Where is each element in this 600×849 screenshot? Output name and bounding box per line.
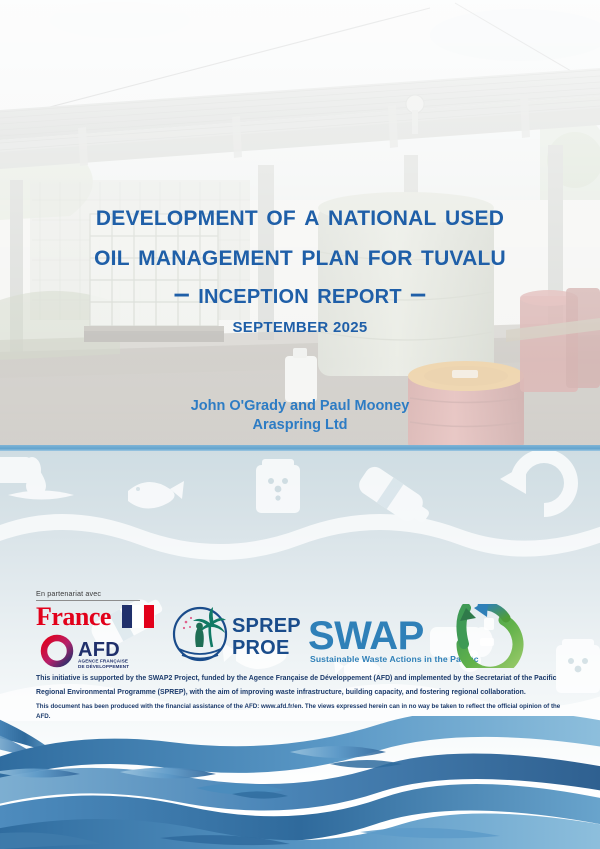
partner-logo-row: France AFD AGEN [0, 600, 600, 670]
sprep-logo: SPREP PROE [172, 603, 300, 670]
title-line-2: Oil Management Plan for Tuvalu [0, 236, 600, 276]
afd-logo-mark: AFD AGENCE FRANÇAISE DE DÉVELOPPEMENT [40, 632, 156, 670]
document-cover-page: Development of a national Used Oil Manag… [0, 0, 600, 849]
sprep-logo-mark: SPREP PROE [172, 603, 300, 665]
fish-icon [128, 481, 184, 509]
svg-text:AGENCE FRANÇAISE: AGENCE FRANÇAISE [78, 659, 128, 664]
author-organisation: Araspring Ltd [0, 416, 600, 435]
title-line-3: – Inception Report – [0, 275, 600, 314]
swap-logo: SWAP Sustainable Waste Actions in the Pa… [308, 604, 558, 673]
french-flag-icon [122, 605, 154, 628]
author-names: John O'Grady and Paul Mooney [0, 397, 600, 416]
publication-date: SEPTEMBER 2025 [0, 319, 600, 336]
france-logo: France [36, 601, 156, 636]
france-wordmark: France [36, 601, 156, 631]
disclaimer-paragraph-2: This document has been produced with the… [36, 702, 569, 722]
svg-text:SWAP: SWAP [308, 614, 424, 658]
svg-text:France: France [36, 602, 111, 631]
svg-text:DE DÉVELOPPEMENT: DE DÉVELOPPEMENT [78, 662, 129, 669]
authors-block: John O'Grady and Paul Mooney Araspring L… [0, 397, 600, 435]
bottom-wave-graphic [0, 716, 600, 849]
disclaimer-paragraph-1: This initiative is supported by the SWAP… [36, 672, 569, 700]
swap-fishhook-recycle-icon [460, 604, 518, 668]
svg-text:PROE: PROE [232, 637, 289, 659]
hazard-container-icon [256, 459, 300, 513]
swap-logo-mark: SWAP Sustainable Waste Actions in the Pa… [308, 604, 558, 668]
svg-text:Sustainable Waste Actions in t: Sustainable Waste Actions in the Pacific [310, 654, 479, 664]
sprep-island-emblem-icon [174, 607, 226, 660]
afd-ring-icon [44, 638, 70, 664]
page-title: Development of a national Used Oil Manag… [0, 196, 600, 336]
title-line-1: Development of a national Used [0, 196, 600, 236]
afd-logo: AFD AGENCE FRANÇAISE DE DÉVELOPPEMENT [40, 632, 156, 675]
recycle-arrow-icon [500, 451, 578, 517]
funding-disclaimer: This initiative is supported by the SWAP… [36, 672, 569, 722]
svg-text:SPREP: SPREP [232, 615, 300, 637]
